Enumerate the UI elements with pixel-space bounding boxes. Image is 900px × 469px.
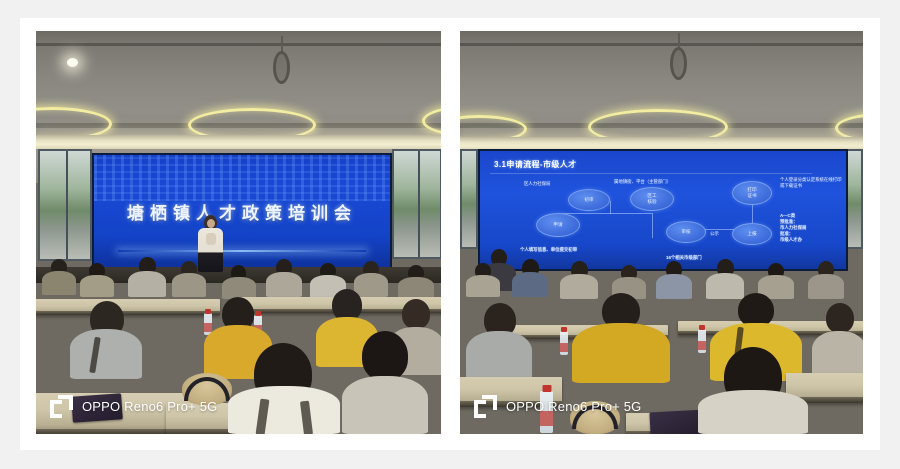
- led-screen-left: 塘栖镇人才政策培训会: [92, 153, 392, 273]
- led-glow-line: [118, 250, 367, 252]
- person-torso: [808, 274, 844, 299]
- person-head: [362, 331, 408, 381]
- slide-title: 3.1申请流程-市级人才: [494, 159, 577, 170]
- audience-person: [466, 303, 532, 383]
- audience-person: [572, 293, 670, 383]
- person-torso: [466, 331, 532, 383]
- watermark-text: OPPO Reno6 Pro+ 5G: [82, 399, 217, 414]
- window-mullion: [66, 151, 68, 259]
- person-head: [402, 299, 430, 329]
- person-torso: [812, 331, 863, 379]
- bottle-label: [560, 343, 568, 352]
- flow-node: 审核: [666, 221, 706, 243]
- window-right: [846, 149, 863, 249]
- window-left: [460, 149, 478, 249]
- slide-divider: [490, 173, 812, 174]
- ceiling-seam: [460, 43, 863, 46]
- bottle-cap: [542, 385, 551, 392]
- audience-person: [812, 303, 863, 379]
- audience-person: [172, 261, 206, 297]
- flow-label: 个人登录分类认定系统在线打印或下载证书: [780, 177, 842, 189]
- photo-card: 塘栖镇人才政策培训会: [20, 18, 880, 450]
- flow-label: 区人力社保局: [524, 181, 550, 187]
- audience-person-foreground: [228, 343, 340, 434]
- flow-label: 属地镇街、平台（主管部门）: [614, 179, 671, 185]
- person-torso: [228, 386, 340, 434]
- event-title: 塘栖镇人才政策培训会: [94, 199, 390, 224]
- ceiling-spot-light: [67, 58, 78, 67]
- watermark-right: OPPO Reno6 Pro+ 5G: [474, 395, 641, 418]
- person-torso: [398, 277, 434, 299]
- window-left: [38, 149, 92, 261]
- ceiling-seam: [36, 43, 441, 46]
- audience-person: [808, 261, 844, 299]
- flow-label: 公示: [710, 231, 719, 237]
- flow-node: 初审: [568, 189, 610, 211]
- audience-person: [222, 265, 256, 299]
- led-screen-right: 3.1申请流程-市级人才 初审 区工 核验 申请 审核 上报 打印 证书 区人力…: [478, 149, 848, 271]
- flow-node: 上报: [732, 223, 772, 245]
- person-torso: [42, 271, 76, 295]
- audience-person: [80, 263, 114, 297]
- flow-connector: [652, 213, 653, 238]
- watermark-text: OPPO Reno6 Pro+ 5G: [506, 399, 641, 414]
- person-torso: [512, 272, 548, 297]
- audience-person-foreground: [342, 331, 428, 434]
- oppo-camera-logo-icon: [50, 395, 73, 418]
- page-root: 塘栖镇人才政策培训会: [0, 0, 900, 469]
- audience-person: [266, 259, 302, 297]
- photo-right[interactable]: 3.1申请流程-市级人才 初审 区工 核验 申请 审核 上报 打印 证书 区人力…: [460, 31, 863, 434]
- oppo-camera-logo-icon: [474, 395, 497, 418]
- flow-node: 打印 证书: [732, 181, 772, 205]
- audience-person: [466, 263, 500, 297]
- led-pixel-texture: [94, 155, 390, 201]
- photo-left[interactable]: 塘栖镇人才政策培训会: [36, 31, 441, 434]
- water-bottle: [560, 331, 568, 355]
- audience-person: [512, 259, 548, 297]
- flow-label: A—C类 预批准： 市人力社保局 批准： 市级人才办: [780, 213, 842, 243]
- flow-node: 区工 核验: [630, 187, 674, 211]
- audience-person: [398, 265, 434, 299]
- hanging-ring-fixture: [273, 51, 290, 84]
- person-head: [738, 293, 774, 327]
- audience-person: [128, 257, 166, 297]
- person-torso: [70, 329, 142, 379]
- presenter-face: [207, 219, 215, 228]
- audience-person-foreground: [698, 347, 808, 434]
- person-head: [826, 303, 854, 333]
- flow-label: 个人填写信息、单位提交初审: [520, 247, 577, 253]
- person-torso: [80, 275, 114, 297]
- person-torso: [128, 271, 166, 297]
- presenter-arm-microphone: [206, 233, 216, 245]
- person-torso: [572, 323, 670, 383]
- bottle-cap: [561, 327, 567, 332]
- person-torso: [266, 272, 302, 297]
- hanging-ring-fixture: [670, 47, 687, 80]
- window-mullion: [418, 151, 420, 257]
- person-torso: [466, 275, 500, 297]
- person-torso: [342, 376, 428, 434]
- person-torso: [698, 390, 808, 434]
- flow-node: 申请: [536, 213, 580, 237]
- bottle-cap: [699, 325, 705, 330]
- audience-person: [70, 301, 142, 379]
- audience-person: [42, 259, 76, 295]
- window-right: [392, 149, 441, 259]
- flow-connector: [610, 213, 652, 214]
- person-torso: [222, 277, 256, 299]
- watermark-left: OPPO Reno6 Pro+ 5G: [50, 395, 217, 418]
- person-torso: [172, 273, 206, 297]
